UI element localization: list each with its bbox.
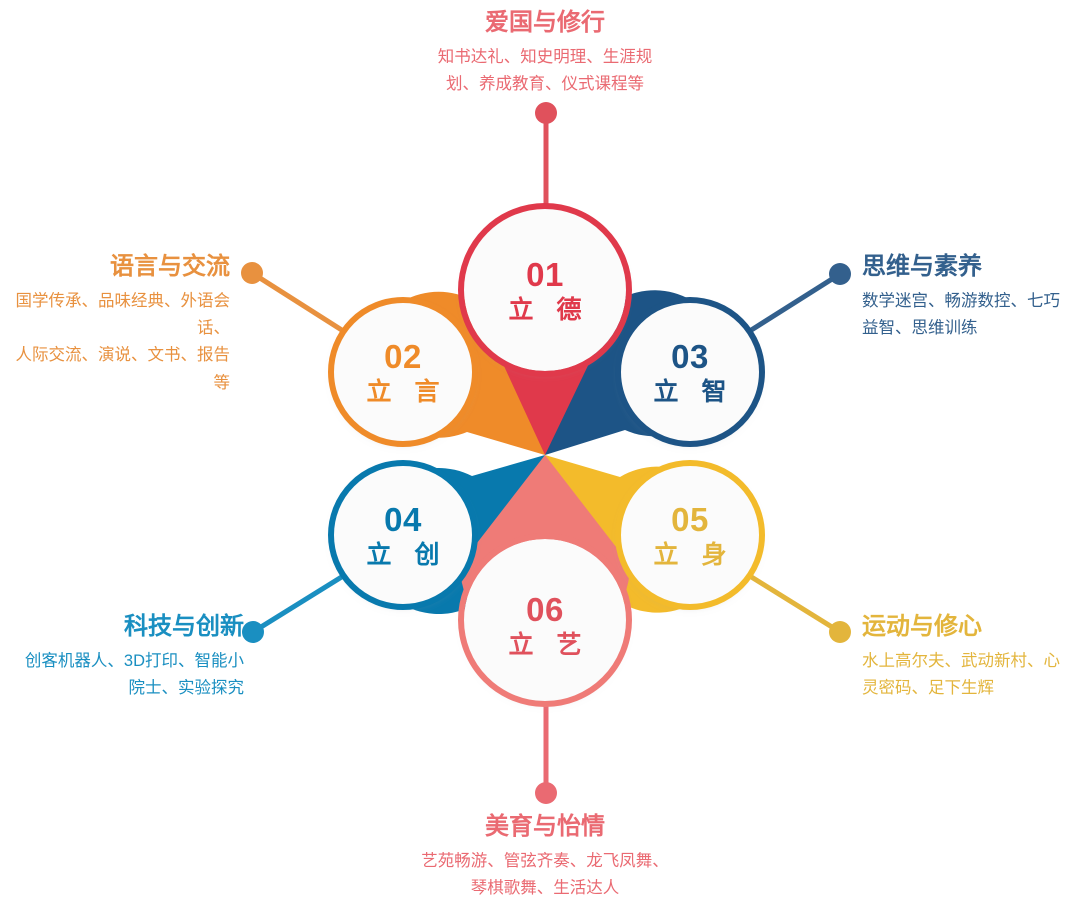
callout-technology-and-innovation[interactable]: 科技与创新 创客机器人、3D打印、智能小 院士、实验探究 [2,612,244,702]
callout-desc-left-top-line2: 人际交流、演说、文书、报告等 [2,342,230,396]
callout-patriotism-and-cultivation[interactable]: 爱国与修行 知书达礼、知史明理、生涯规 划、养成教育、仪式课程等 [340,8,750,98]
connector-dot-03 [829,263,851,285]
callout-desc-left-bottom-line1: 创客机器人、3D打印、智能小 [2,648,244,675]
hub-number-04: 04 [384,503,422,536]
callout-desc-right-bottom-line2: 灵密码、足下生辉 [862,675,1078,702]
callout-desc-left-bottom-line2: 院士、实验探究 [2,675,244,702]
hub-title-01: 立 德 [501,298,590,323]
hub-number-01: 01 [526,258,564,291]
callout-thinking-and-literacy[interactable]: 思维与素养 数学迷宫、畅游数控、七巧 益智、思维训练 [862,252,1078,342]
callout-desc-top-line2: 划、养成教育、仪式课程等 [340,71,750,98]
hub-number-06: 06 [526,593,564,626]
connector-dot-06 [535,782,557,804]
hub-title-04: 立 创 [359,543,448,568]
callout-desc-right-top-line2: 益智、思维训练 [862,315,1078,342]
hub-number-05: 05 [671,503,709,536]
callout-desc-right-top-line1: 数学迷宫、畅游数控、七巧 [862,288,1078,315]
hub-label-03[interactable]: 03 立 智 [600,307,780,437]
callout-aesthetics-and-enjoyment[interactable]: 美育与怡情 艺苑畅游、管弦齐奏、龙飞凤舞、 琴棋歌舞、生活达人 [340,812,750,902]
hub-label-02[interactable]: 02 立 言 [313,307,493,437]
infographic-canvas: 01 立 德 02 立 言 03 立 智 04 立 创 05 立 身 06 立 … [0,0,1080,908]
callout-title-top: 爱国与修行 [340,8,750,38]
callout-desc-left-top-line1: 国学传承、品味经典、外语会话、 [2,288,230,342]
hub-title-02: 立 言 [359,380,448,405]
connector-dot-02 [241,262,263,284]
callout-title-left-bottom: 科技与创新 [2,612,244,642]
callout-title-bottom: 美育与怡情 [340,812,750,842]
connector-dot-01 [535,102,557,124]
callout-desc-right-bottom-line1: 水上高尔夫、武动新村、心 [862,648,1078,675]
connector-dot-05 [829,621,851,643]
hub-title-06: 立 艺 [501,633,590,658]
callout-title-right-bottom: 运动与修心 [862,612,1078,642]
callout-sports-and-mind[interactable]: 运动与修心 水上高尔夫、武动新村、心 灵密码、足下生辉 [862,612,1078,702]
hub-number-02: 02 [384,340,422,373]
callout-title-right-top: 思维与素养 [862,252,1078,282]
callout-desc-bottom-line1: 艺苑畅游、管弦齐奏、龙飞凤舞、 [340,848,750,875]
petal-flower-graphic [0,0,1080,908]
hub-number-03: 03 [671,340,709,373]
callout-language-and-communication[interactable]: 语言与交流 国学传承、品味经典、外语会话、 人际交流、演说、文书、报告等 [2,252,230,397]
connector-dot-04 [242,621,264,643]
hub-title-05: 立 身 [646,543,735,568]
callout-desc-bottom-line2: 琴棋歌舞、生活达人 [340,875,750,902]
callout-title-left-top: 语言与交流 [2,252,230,282]
hub-label-06[interactable]: 06 立 艺 [445,550,645,700]
callout-desc-top-line1: 知书达礼、知史明理、生涯规 [340,44,750,71]
hub-title-03: 立 智 [646,380,735,405]
